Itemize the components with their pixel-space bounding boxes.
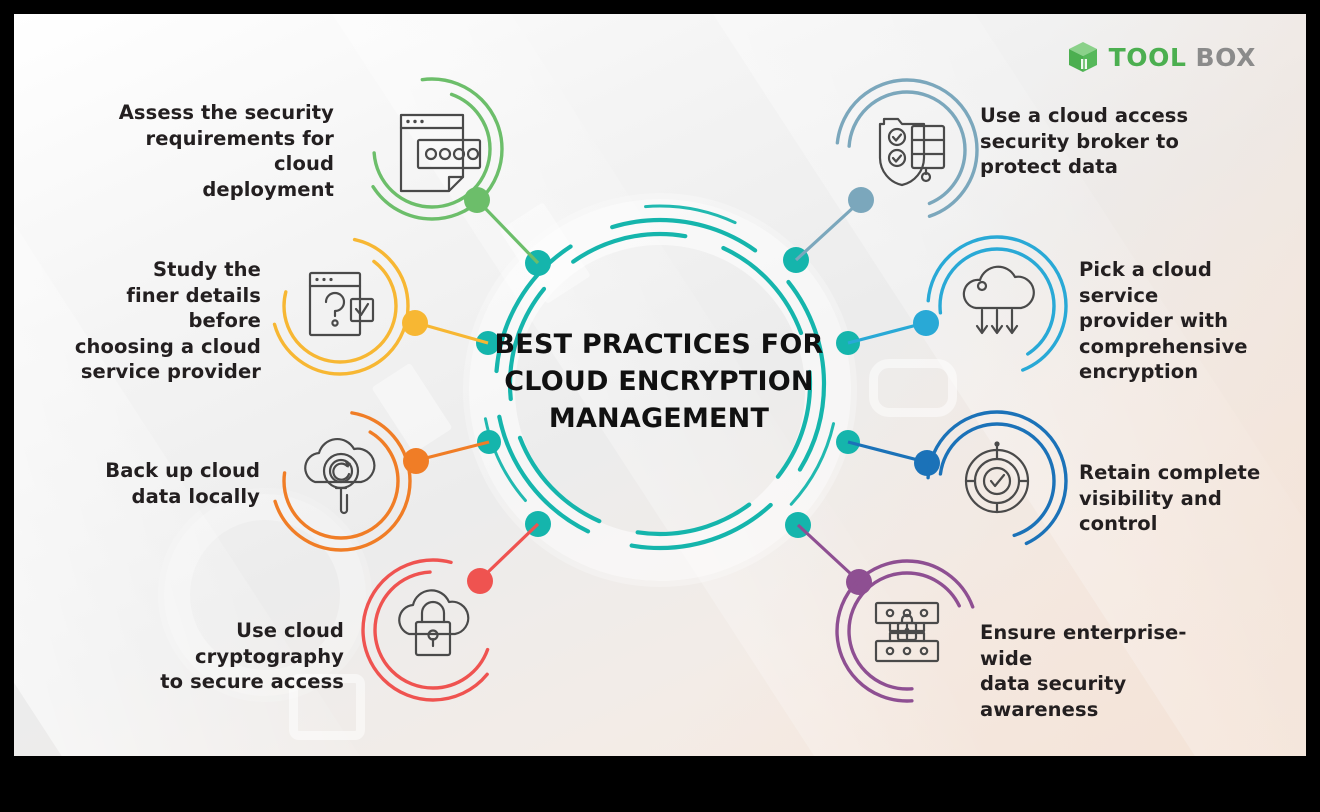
label-enterprise-security-awareness: Ensure enterprise-wide data security awa… xyxy=(980,620,1230,722)
green-cube-icon xyxy=(1066,40,1100,74)
label-cloud-cryptography: Use cloud cryptography to secure access xyxy=(94,618,344,695)
question-checklist-icon xyxy=(310,273,373,335)
node-dot-encryption xyxy=(913,310,939,336)
node-enterprise-security-awareness xyxy=(798,525,977,701)
cloud-lock-icon xyxy=(399,590,468,655)
label-assess-security-requirements: Assess the security requirements for clo… xyxy=(99,100,334,202)
node-assess-security-requirements xyxy=(362,79,538,263)
page-title: BEST PRACTICES FOR CLOUD ENCRYPTION MANA… xyxy=(479,326,839,437)
node-study-finer-details xyxy=(272,238,488,374)
node-retain-visibility-control xyxy=(848,412,1066,550)
shield-server-icon xyxy=(880,119,944,185)
node-cloud-cryptography xyxy=(363,524,538,700)
label-comprehensive-encryption-provider: Pick a cloud service provider with compr… xyxy=(1079,257,1294,385)
brand-logo[interactable]: TOOL BOX xyxy=(1066,40,1256,74)
radar-check-icon xyxy=(966,441,1028,512)
infographic-canvas: .ring-outer{fill:none;stroke-width:3.4;}… xyxy=(14,14,1306,756)
brand-name-primary: TOOL xyxy=(1109,43,1187,72)
node-cloud-access-security-broker xyxy=(796,80,977,260)
label-cloud-access-security-broker: Use a cloud access security broker to pr… xyxy=(980,103,1210,180)
label-retain-visibility-control: Retain complete visibility and control xyxy=(1079,460,1294,537)
network-lock-icon xyxy=(876,603,938,661)
node-dot-cryptography xyxy=(467,568,493,594)
cloud-backup-search-icon xyxy=(305,439,374,513)
label-study-finer-details: Study the finer details before choosing … xyxy=(49,257,261,385)
cloud-download-icon xyxy=(964,267,1034,333)
node-comprehensive-encryption-provider xyxy=(848,237,1066,375)
brand-name-secondary: BOX xyxy=(1196,43,1257,72)
label-back-up-cloud-data: Back up cloud data locally xyxy=(74,458,260,509)
node-back-up-cloud-data xyxy=(272,412,489,550)
document-password-icon xyxy=(401,115,480,191)
node-dot-casb xyxy=(848,187,874,213)
